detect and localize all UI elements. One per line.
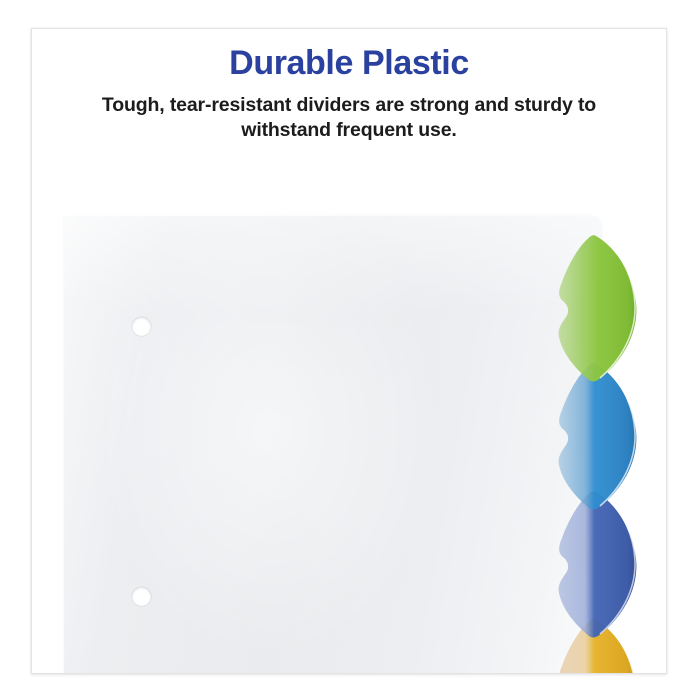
screenshot-stage: Durable Plastic Tough, tear-resistant di… (0, 0, 700, 700)
plastic-divider-sheet (64, 213, 602, 673)
headline-block: Durable Plastic Tough, tear-resistant di… (32, 43, 666, 143)
page-title: Durable Plastic (32, 43, 666, 83)
product-image-card: Durable Plastic Tough, tear-resistant di… (31, 28, 667, 674)
sheet-top-edge (64, 213, 602, 216)
punch-hole-top (132, 317, 151, 336)
photo-right-margin (642, 181, 666, 673)
product-photo (32, 181, 666, 673)
divider-tab-green (548, 233, 640, 383)
divider-tab-blue (548, 361, 640, 511)
divider-tab-royal-blue (548, 489, 640, 639)
page-subtitle: Tough, tear-resistant dividers are stron… (66, 93, 632, 143)
punch-hole-bottom (132, 587, 151, 606)
